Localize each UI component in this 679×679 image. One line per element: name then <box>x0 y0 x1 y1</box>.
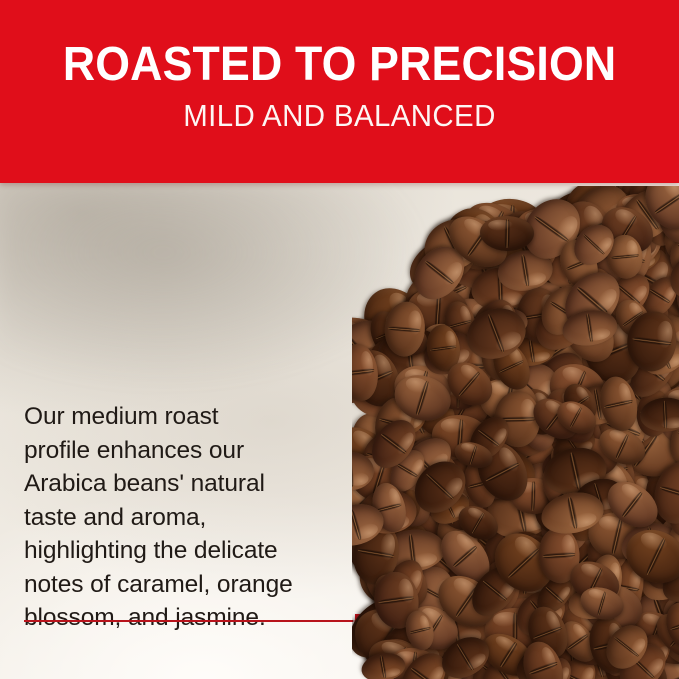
accent-rule <box>24 620 357 622</box>
description-paragraph: Our medium roast profile enhances our Ar… <box>24 400 324 635</box>
page-subtitle: MILD AND BALANCED <box>183 99 496 133</box>
coffee-beans-image <box>352 186 679 679</box>
promotional-banner-card: ROASTED TO PRECISION MILD AND BALANCED O… <box>0 0 679 679</box>
page-title: ROASTED TO PRECISION <box>63 40 617 90</box>
header-band: ROASTED TO PRECISION MILD AND BALANCED <box>0 0 679 183</box>
